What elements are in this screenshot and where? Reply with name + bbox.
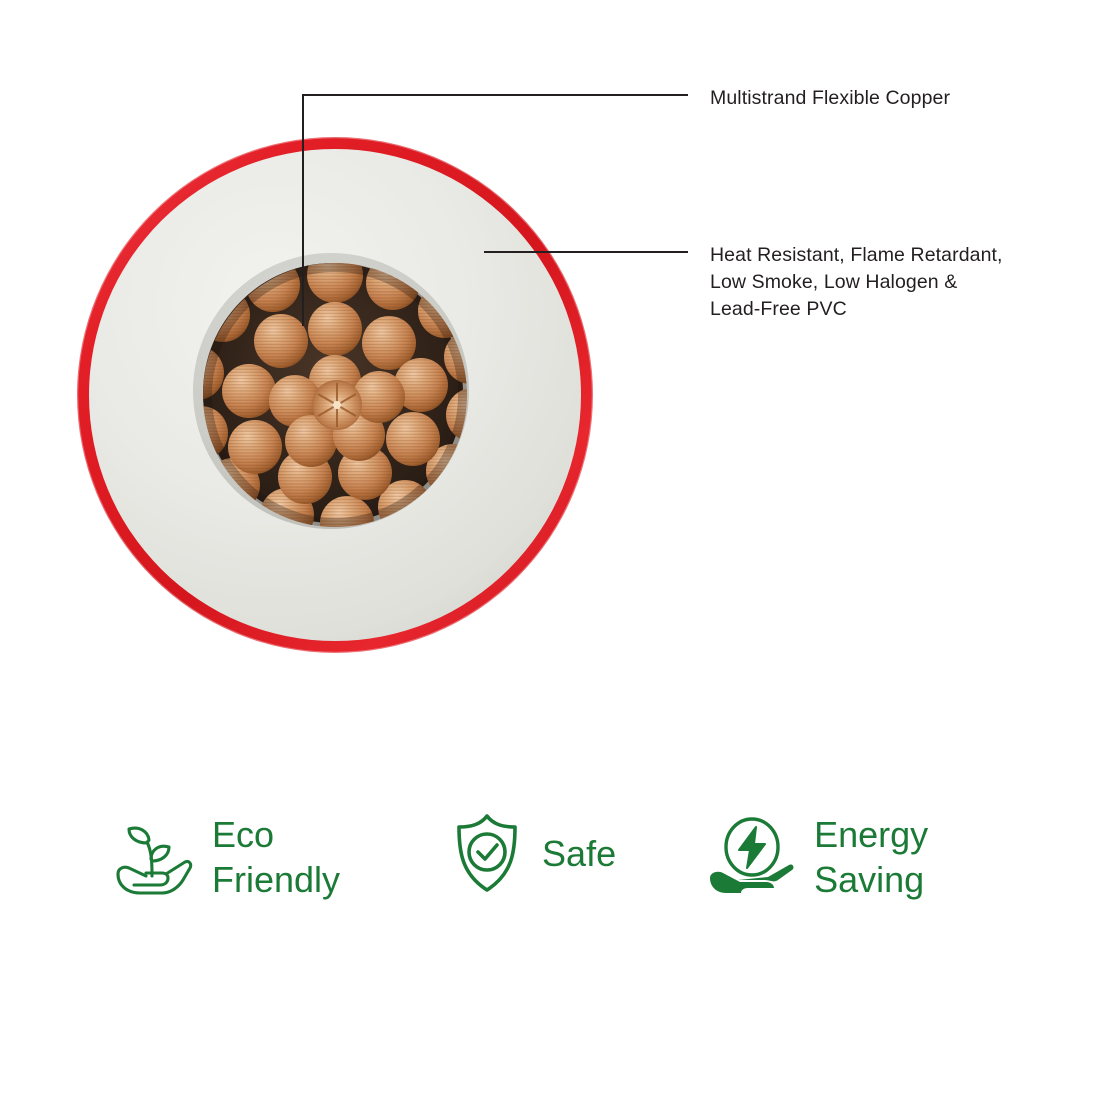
hand-holding-plant-icon bbox=[112, 816, 194, 898]
hand-holding-bolt-icon bbox=[708, 816, 796, 898]
feature-label-safe: Safe bbox=[542, 831, 616, 876]
feature-label-energy-saving: Energy Saving bbox=[814, 812, 928, 902]
feature-safe: Safe bbox=[450, 812, 616, 894]
feature-label-eco-friendly: Eco Friendly bbox=[212, 812, 340, 902]
callout-label-pvc-properties: Heat Resistant, Flame Retardant, Low Smo… bbox=[710, 242, 1003, 323]
feature-badge-row: Eco Friendly Safe bbox=[0, 812, 1100, 942]
centre-strand bbox=[312, 380, 362, 430]
feature-eco-friendly: Eco Friendly bbox=[112, 812, 340, 902]
callout-label-multistrand-copper: Multistrand Flexible Copper bbox=[710, 85, 950, 112]
cable-diagram-svg bbox=[73, 133, 597, 657]
cable-cross-section-figure bbox=[73, 133, 597, 657]
feature-energy-saving: Energy Saving bbox=[708, 812, 928, 902]
shield-check-icon bbox=[450, 812, 524, 894]
